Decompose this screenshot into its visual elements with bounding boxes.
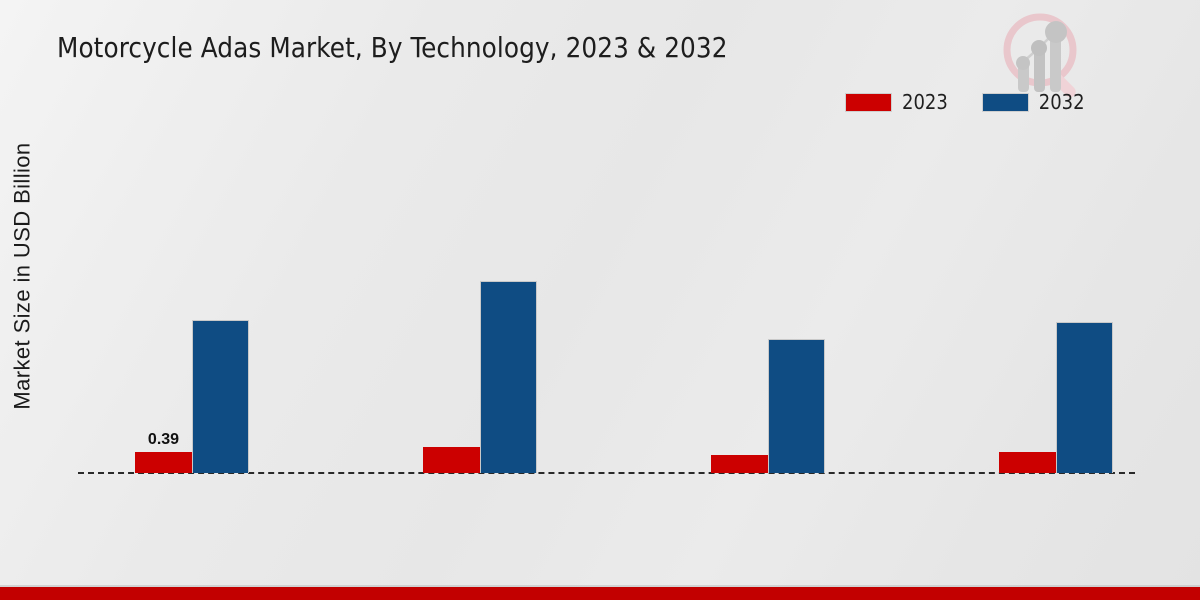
bar-2032[interactable] bbox=[768, 339, 825, 473]
bar-2032[interactable] bbox=[192, 320, 249, 473]
bar-2023[interactable] bbox=[423, 447, 480, 473]
bar-value-label: 0.39 bbox=[148, 431, 179, 449]
bar-2032[interactable] bbox=[480, 281, 537, 473]
bar-pair bbox=[400, 143, 560, 473]
bar-group: Automatic Emergency Braking bbox=[976, 143, 1136, 473]
plot-area: 0.39 Adaptive Cruise Control Collision A… bbox=[0, 0, 1200, 600]
bar-group: Lane Departure Warning bbox=[688, 143, 848, 473]
bar-group: Collision Avoidance System bbox=[400, 143, 560, 473]
bar-group: 0.39 Adaptive Cruise Control bbox=[112, 143, 272, 473]
bar-2023[interactable] bbox=[999, 452, 1056, 473]
bar-2023[interactable] bbox=[711, 455, 768, 473]
chart-canvas: Motorcycle Adas Market, By Technology, 2… bbox=[0, 0, 1200, 600]
bottom-accent-band bbox=[0, 587, 1200, 600]
bar-2032[interactable] bbox=[1056, 322, 1113, 473]
bar-2023[interactable]: 0.39 bbox=[135, 452, 192, 473]
bar-pair bbox=[976, 143, 1136, 473]
bar-pair: 0.39 bbox=[112, 143, 272, 473]
bar-pair bbox=[688, 143, 848, 473]
